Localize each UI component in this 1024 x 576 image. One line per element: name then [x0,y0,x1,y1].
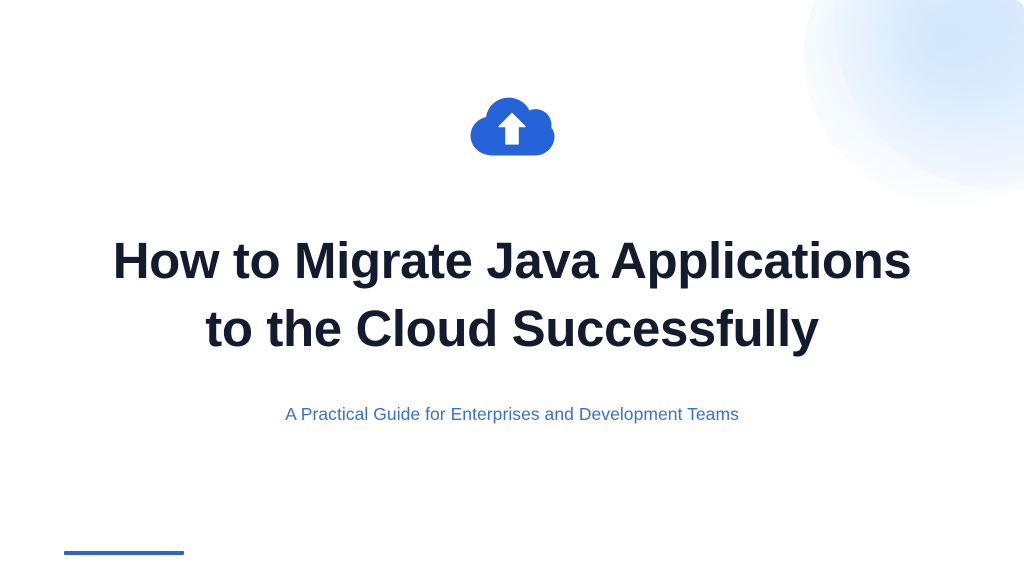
cloud-upload-icon [469,96,555,158]
title-slide: How to Migrate Java Applications to the … [0,0,1024,576]
page-subtitle: A Practical Guide for Enterprises and De… [62,402,962,427]
slide-content: How to Migrate Java Applications to the … [0,0,1024,576]
page-title-line-1: How to Migrate Java Applications [42,227,982,295]
page-title: How to Migrate Java Applications to the … [42,227,982,363]
page-title-line-2: to the Cloud Successfully [42,295,982,363]
accent-bar [64,551,184,555]
cloud-upload-icon-wrapper [0,96,1024,158]
